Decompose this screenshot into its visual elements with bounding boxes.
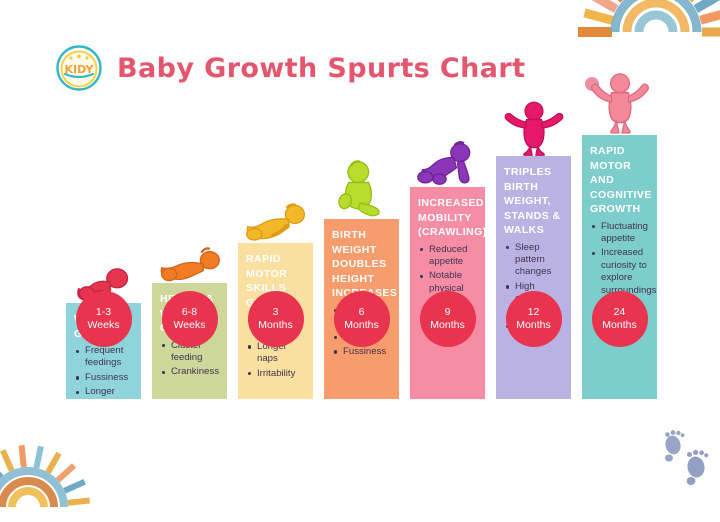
age-badge-4: 6 Months bbox=[334, 291, 390, 347]
column-bullets-1: Frequent feedings Fussiness Longer sleep bbox=[74, 345, 134, 399]
bullet-item: Crankiness bbox=[171, 366, 220, 378]
standing-baby-icon bbox=[496, 98, 571, 156]
age-line-1: 6 bbox=[359, 306, 365, 319]
age-line-2: Months bbox=[258, 319, 292, 332]
age-badge-6: 12 Months bbox=[506, 291, 562, 347]
crawling-baby-icon bbox=[410, 139, 485, 187]
tummy-time-baby-icon bbox=[238, 199, 313, 243]
age-line-1: 3 bbox=[273, 306, 279, 319]
column-heading-6: TRIPLES BIRTH WEIGHT, STANDS & WALKS bbox=[504, 165, 564, 238]
bullet-item: Increased curiosity to explore surroundi… bbox=[601, 247, 650, 297]
column-bar-6: TRIPLES BIRTH WEIGHT, STANDS & WALKS Sle… bbox=[496, 156, 571, 399]
age-badge-1: 1-3 Weeks bbox=[76, 291, 132, 347]
bullet-item: Reduced appetite bbox=[429, 244, 478, 269]
bullet-item: Frequent feedings bbox=[85, 345, 134, 370]
age-line-1: 24 bbox=[614, 306, 626, 319]
age-line-2: Months bbox=[516, 319, 550, 332]
age-line-2: Months bbox=[344, 319, 378, 332]
bullet-item: Fluctuating appetite bbox=[601, 221, 650, 246]
column-heading-7: RAPID MOTOR AND COGNITIVE GROWTH bbox=[590, 144, 650, 217]
infographic-canvas: KIDY Baby Growth Spurts Chart bbox=[0, 0, 720, 509]
bullet-item: Longer sleep bbox=[85, 386, 134, 399]
column-heading-5: INCREASED MOBILITY (CRAWLING) bbox=[418, 196, 478, 240]
bullet-item: Sleep pattern changes bbox=[515, 242, 564, 279]
bullet-item: Irritability bbox=[257, 368, 306, 380]
age-badge-2: 6-8 Weeks bbox=[162, 291, 218, 347]
age-line-1: 1-3 bbox=[96, 306, 111, 319]
age-line-2: Months bbox=[430, 319, 464, 332]
age-line-1: 6-8 bbox=[182, 306, 197, 319]
column-bullets-7: Fluctuating appetite Increased curiosity… bbox=[590, 221, 650, 297]
age-line-2: Months bbox=[602, 319, 636, 332]
bullet-item: Fussiness bbox=[343, 346, 392, 358]
age-line-1: 12 bbox=[528, 306, 540, 319]
age-line-2: Weeks bbox=[174, 319, 206, 332]
growth-spurts-chart: WEIGHT GAIN Frequent feedings Fussiness … bbox=[0, 0, 720, 509]
sitting-baby-icon bbox=[324, 157, 399, 219]
age-badge-7: 24 Months bbox=[592, 291, 648, 347]
column-bar-7: RAPID MOTOR AND COGNITIVE GROWTH Fluctua… bbox=[582, 135, 657, 399]
bullet-item: Fussiness bbox=[85, 372, 134, 384]
column-heading-4: BIRTH WEIGHT DOUBLES HEIGHT INCREASES bbox=[332, 228, 392, 301]
age-line-1: 9 bbox=[445, 306, 451, 319]
age-badge-5: 9 Months bbox=[420, 291, 476, 347]
toddler-baby-icon bbox=[582, 69, 657, 135]
age-badge-3: 3 Months bbox=[248, 291, 304, 347]
age-line-2: Weeks bbox=[88, 319, 120, 332]
lying-baby-icon bbox=[152, 243, 227, 283]
